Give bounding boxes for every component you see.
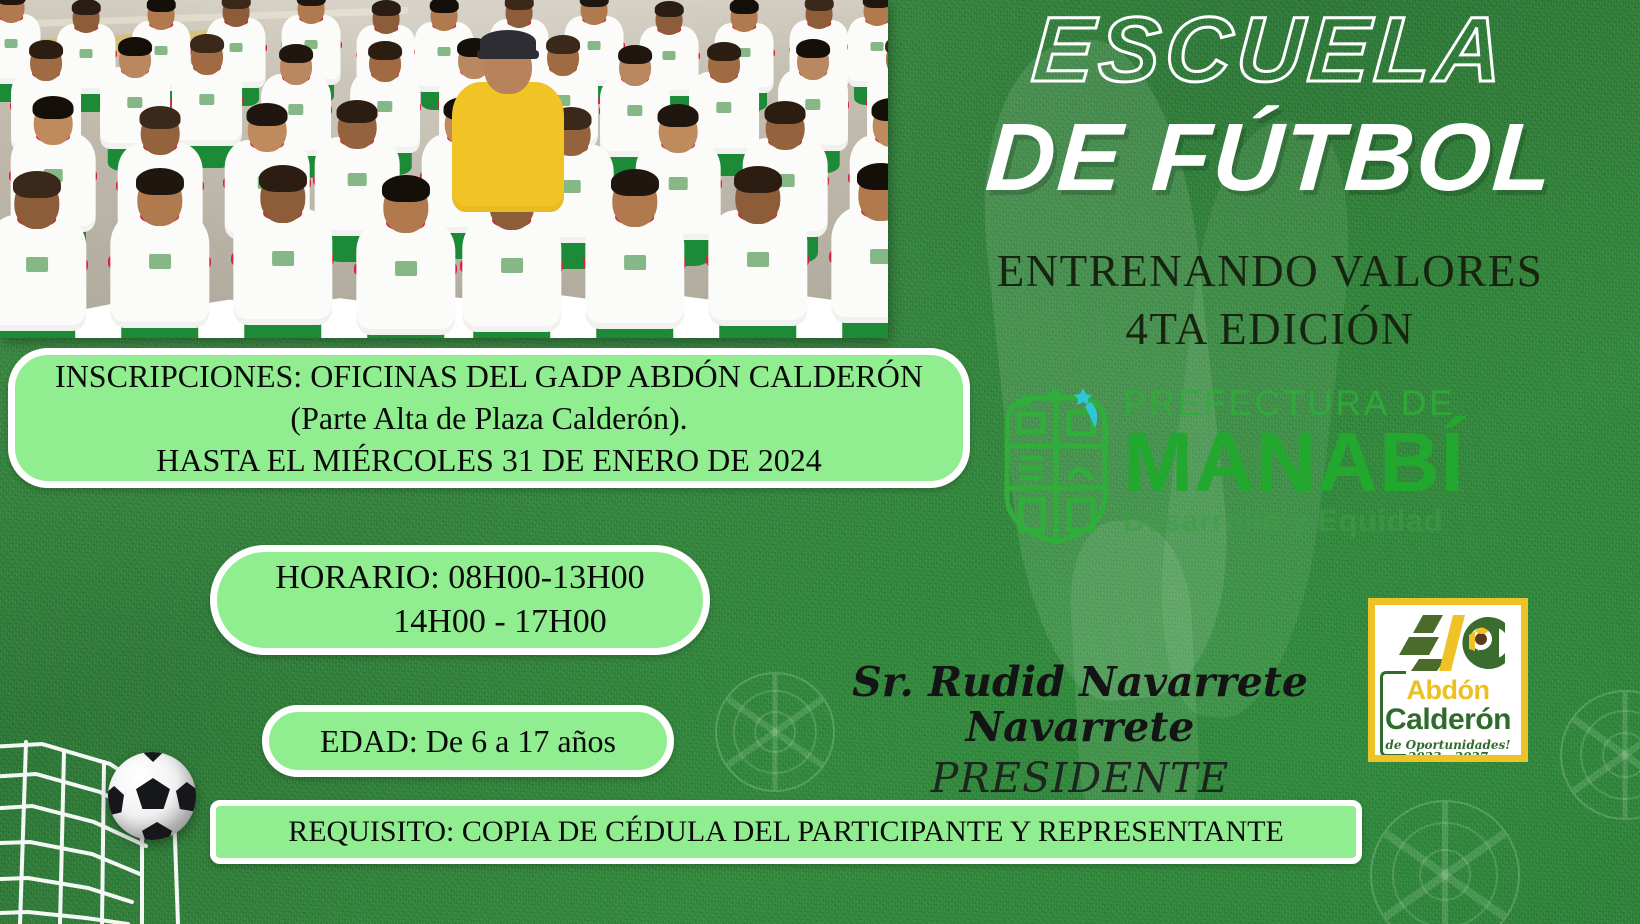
soccer-ball-icon xyxy=(108,752,196,840)
signature-block: Sr. Rudid Navarrete Navarrete PRESIDENTE xyxy=(760,660,1400,802)
manabi-crest-icon xyxy=(995,384,1117,548)
abdon-calderon-logo: Abdón Calderón de Oportunidades! 2023 - … xyxy=(1368,598,1528,762)
poster-canvas: ESCUELA DE FÚTBOL ENTRENANDO VALORES 4TA… xyxy=(0,0,1640,924)
signature-name: Sr. Rudid Navarrete Navarrete xyxy=(760,660,1400,750)
prefectura-line-1: PREFECTURA DE xyxy=(1123,386,1555,421)
info-box-inscripciones: INSCRIPCIONES: OFICINAS DEL GADP ABDÓN C… xyxy=(8,348,970,488)
info-box-requisito: REQUISITO: COPIA DE CÉDULA DEL PARTICIPA… xyxy=(210,800,1362,864)
info-box-edad: EDAD: De 6 a 17 años xyxy=(262,705,674,777)
abdon-name-last: Calderón xyxy=(1375,705,1521,735)
prefectura-line-2: MANABÍ xyxy=(1123,423,1555,503)
horario-line-1: HORARIO: 08H00-13H00 xyxy=(275,556,644,600)
horario-line-2: 14H00 - 17H00 xyxy=(393,600,606,644)
inscripciones-line-1: INSCRIPCIONES: OFICINAS DEL GADP ABDÓN C… xyxy=(55,355,923,397)
requisito-line-1: REQUISITO: COPIA DE CÉDULA DEL PARTICIPA… xyxy=(288,815,1284,849)
title-de-futbol: DE FÚTBOL xyxy=(901,108,1638,209)
headline-block: ESCUELA DE FÚTBOL ENTRENANDO VALORES 4TA… xyxy=(905,4,1635,355)
prefectura-manabi-logo: PREFECTURA DE MANABÍ Desarrollo y Equida… xyxy=(995,378,1555,548)
ac-monogram-icon xyxy=(1389,611,1521,673)
edad-line-1: EDAD: De 6 a 17 años xyxy=(320,723,616,760)
signature-role: PRESIDENTE xyxy=(760,754,1400,802)
inscripciones-line-3: HASTA EL MIÉRCOLES 31 DE ENERO DE 2024 xyxy=(156,439,822,481)
abdon-tagline: de Oportunidades! 2023 - 2027 xyxy=(1375,739,1521,762)
subtitle-entrenando-valores: ENTRENANDO VALORES xyxy=(905,245,1635,297)
subtitle-edicion: 4TA EDICIÓN xyxy=(905,303,1635,355)
inscripciones-line-2: (Parte Alta de Plaza Calderón). xyxy=(290,397,687,439)
info-box-horario: HORARIO: 08H00-13H00 14H00 - 17H00 xyxy=(210,545,710,655)
prefectura-line-3: Desarrollo y Equidad xyxy=(1123,505,1555,536)
title-escuela: ESCUELA xyxy=(902,4,1638,96)
abdon-name-first: Abdón xyxy=(1375,677,1521,704)
group-photo xyxy=(0,0,888,338)
